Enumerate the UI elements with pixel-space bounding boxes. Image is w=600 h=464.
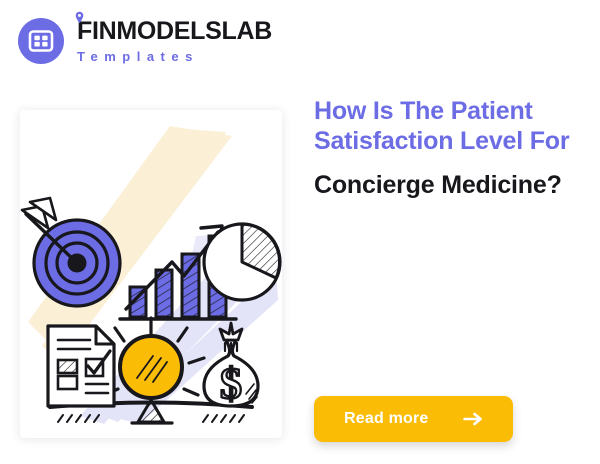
brand-logo[interactable]: FINMODELSLAB Templates [18,18,272,64]
svg-text:$: $ [220,359,242,408]
arrow-right-icon [463,412,483,426]
pie-chart-icon [204,224,280,300]
illustration-card: $ [20,110,282,438]
page-title: How Is The Patient Satisfaction Level Fo… [314,96,586,200]
read-more-label: Read more [344,410,429,428]
headline-block: How Is The Patient Satisfaction Level Fo… [314,96,586,200]
brand-name: FINMODELSLAB [77,19,272,44]
brand-wordmark: FINMODELSLAB Templates [77,19,272,63]
read-more-button[interactable]: Read more [314,396,513,442]
grid-logo-icon [18,18,64,64]
target-with-arrow-icon [22,198,120,306]
headline-topic: Concierge Medicine? [314,170,586,200]
map-pin-icon [75,11,84,24]
brand-subtitle: Templates [77,50,272,63]
headline-lead: How Is The Patient Satisfaction Level Fo… [314,96,586,156]
checklist-document-icon [48,326,114,406]
business-analytics-illustration: $ [20,110,282,438]
